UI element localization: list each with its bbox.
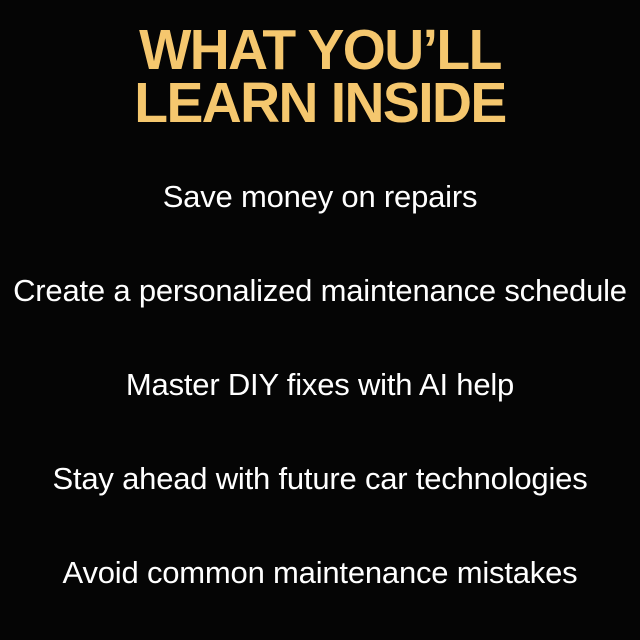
page-title: WHAT YOU’LL LEARN INSIDE	[0, 24, 640, 130]
list-item: Avoid common maintenance mistakes	[0, 554, 640, 592]
page-title-line-1: WHAT YOU’LL	[10, 24, 631, 77]
list-item: Create a personalized maintenance schedu…	[0, 272, 640, 310]
page-title-line-2: LEARN INSIDE	[10, 77, 631, 130]
list-item: Stay ahead with future car technologies	[0, 460, 640, 498]
list-item: Master DIY fixes with AI help	[0, 366, 640, 404]
benefits-list: Save money on repairs Create a personali…	[0, 150, 640, 620]
slide-canvas: WHAT YOU’LL LEARN INSIDE Save money on r…	[0, 0, 640, 640]
list-item: Save money on repairs	[0, 178, 640, 216]
